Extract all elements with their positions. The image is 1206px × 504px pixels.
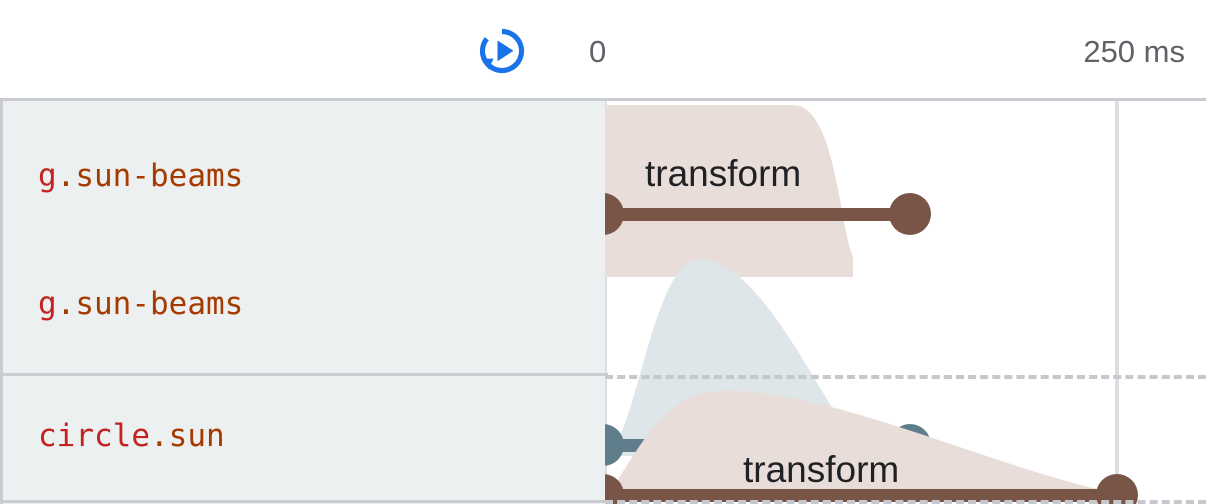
animations-timeline-panel: 0 250 ms transform <box>0 0 1206 504</box>
timeline-body: transform opacity <box>0 101 1206 504</box>
selector-dot-2: . <box>57 286 76 322</box>
selector-element-3: circle <box>38 418 150 454</box>
group-separator <box>605 375 1206 379</box>
selector-label-1[interactable]: g.sun-beams <box>38 161 243 192</box>
keyframe-dot-end-1[interactable] <box>889 193 931 235</box>
selector-class-1: sun-beams <box>75 158 243 194</box>
gutter-bottom-separator <box>3 500 608 503</box>
property-label-1: transform <box>645 155 801 192</box>
selector-dot-1: . <box>57 158 76 194</box>
selector-class-2: sun-beams <box>75 286 243 322</box>
property-label-3: transform <box>743 451 899 488</box>
tick-label-end: 250 ms <box>1083 36 1185 67</box>
selector-element-1: g <box>38 158 57 194</box>
selector-element-2: g <box>38 286 57 322</box>
selector-gutter: g.sun-beams g.sun-beams circle.sun <box>0 101 605 504</box>
replay-play-icon[interactable] <box>477 26 527 76</box>
selector-dot-3: . <box>150 418 169 454</box>
selector-label-3[interactable]: circle.sun <box>38 421 225 452</box>
selector-class-3: sun <box>169 418 225 454</box>
tick-label-start: 0 <box>589 36 606 67</box>
bottom-separator <box>605 500 1206 504</box>
timeline-header: 0 250 ms <box>0 0 1206 101</box>
animation-bar-1[interactable] <box>603 208 910 221</box>
replay-play-icon-svg <box>477 26 527 76</box>
gutter-group-separator <box>3 373 608 376</box>
selector-label-2[interactable]: g.sun-beams <box>38 289 243 320</box>
